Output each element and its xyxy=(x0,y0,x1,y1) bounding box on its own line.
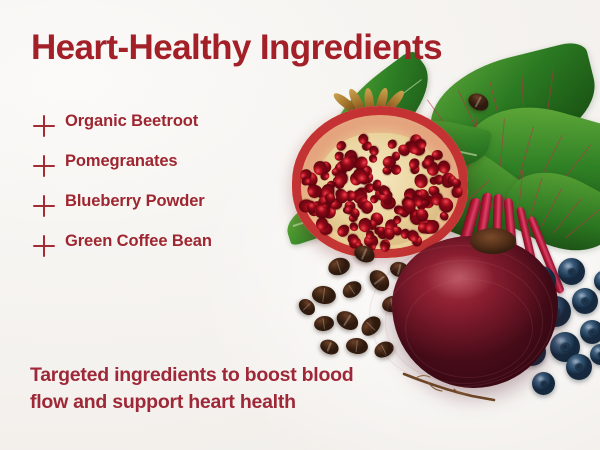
blueberry xyxy=(594,270,600,292)
blueberry-bloom xyxy=(594,347,600,353)
ingredient-label: Pomegranates xyxy=(65,152,178,171)
coffee-bean-crease xyxy=(355,340,358,353)
heart-healthy-ingredients-card: Heart-Healthy Ingredients Organic Beetro… xyxy=(0,0,600,450)
caption-line-2: flow and support heart health xyxy=(30,389,420,416)
blueberry xyxy=(590,344,600,365)
plus-icon xyxy=(33,235,55,257)
coffee-bean-crease xyxy=(322,288,326,302)
plus-icon xyxy=(33,155,55,177)
list-item[interactable]: Green Coffee Bean xyxy=(31,226,301,266)
coffee-bean-crease xyxy=(326,341,332,352)
page-title: Heart-Healthy Ingredients xyxy=(31,28,442,68)
coffee-bean xyxy=(313,315,335,333)
plus-icon xyxy=(33,115,55,137)
ingredient-label: Organic Beetroot xyxy=(65,112,198,131)
leaf-vein xyxy=(529,178,543,221)
coffee-bean xyxy=(340,278,365,302)
ingredient-label: Green Coffee Bean xyxy=(65,232,212,251)
leaf-vein xyxy=(540,188,562,228)
beetroot-grain xyxy=(405,279,533,378)
ingredient-label: Blueberry Powder xyxy=(65,192,205,211)
caption: Targeted ingredients to boost blood flow… xyxy=(30,362,420,416)
coffee-bean-crease xyxy=(302,302,311,311)
coffee-bean-crease xyxy=(348,284,356,295)
coffee-bean-crease xyxy=(361,248,368,260)
blueberry xyxy=(572,288,598,314)
coffee-bean xyxy=(311,284,337,305)
coffee-bean xyxy=(318,337,341,357)
caption-line-1: Targeted ingredients to boost blood xyxy=(30,362,420,389)
plus-icon xyxy=(33,195,55,217)
blueberry-bloom xyxy=(584,323,594,330)
blueberry-bloom xyxy=(563,262,574,270)
blueberry xyxy=(580,320,600,344)
coffee-bean xyxy=(326,255,352,278)
blueberry xyxy=(558,258,585,285)
list-item[interactable]: Organic Beetroot xyxy=(31,106,301,146)
coffee-bean xyxy=(345,337,369,355)
coffee-bean-crease xyxy=(322,318,325,330)
coffee-bean-crease xyxy=(475,96,482,108)
coffee-bean-crease xyxy=(343,314,351,326)
ingredient-list: Organic Beetroot Pomegranates Blueberry … xyxy=(31,106,301,266)
leaf-vein xyxy=(565,209,600,239)
coffee-bean xyxy=(333,307,362,334)
blueberry xyxy=(532,372,555,395)
pomegranate-half xyxy=(292,106,468,258)
blueberry xyxy=(566,354,592,380)
list-item[interactable]: Blueberry Powder xyxy=(31,186,301,226)
beetroot-crown xyxy=(470,228,516,254)
pomegranate-aril xyxy=(415,139,426,149)
list-item[interactable]: Pomegranates xyxy=(31,146,301,186)
coffee-bean-crease xyxy=(336,260,342,273)
